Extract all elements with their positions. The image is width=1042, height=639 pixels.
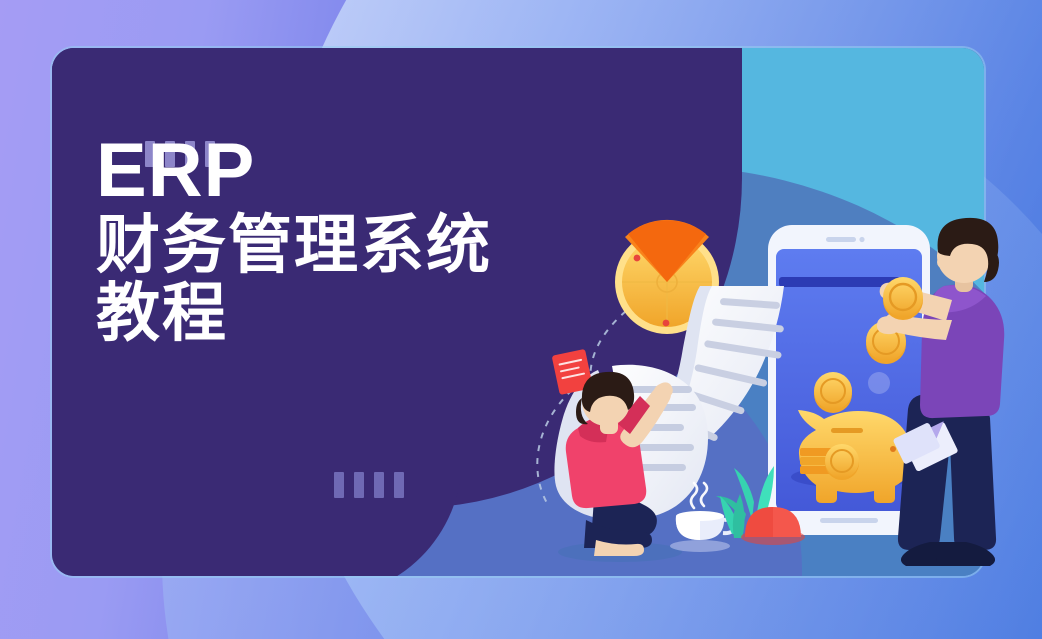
banner-stage: ERP 财务管理系统 教程	[0, 0, 1042, 639]
dash-decoration-mid-left	[334, 472, 404, 498]
title-english: ERP	[96, 136, 492, 206]
title-chinese: 财务管理系统 教程	[96, 212, 492, 348]
page-title: ERP 财务管理系统 教程	[96, 136, 492, 348]
title-chinese-line-2: 教程	[96, 280, 492, 348]
title-chinese-line-1: 财务管理系统	[96, 212, 492, 280]
